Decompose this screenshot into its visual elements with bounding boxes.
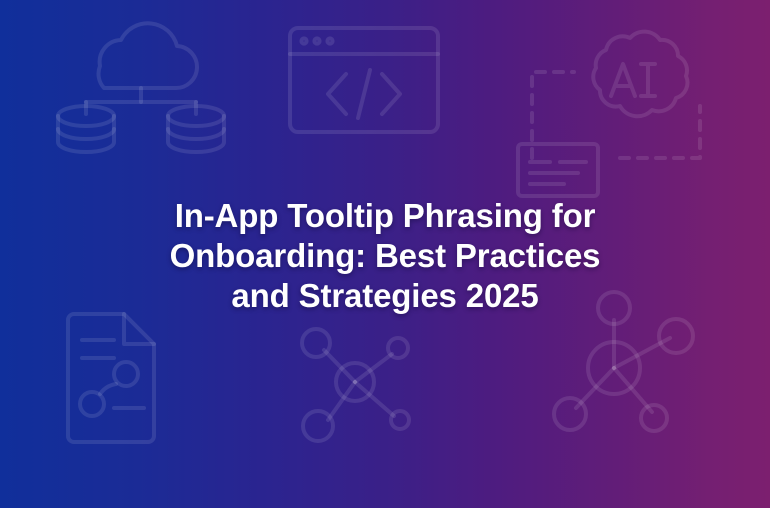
dashed-connector-icon (528, 62, 706, 168)
hero-banner: In-App Tooltip Phrasing for Onboarding: … (0, 0, 770, 508)
ai-cloud-icon (566, 24, 700, 136)
network-node-icon (296, 326, 414, 444)
page-title: In-App Tooltip Phrasing for Onboarding: … (145, 196, 625, 316)
text-card-icon (516, 142, 600, 198)
cloud-database-icon (56, 22, 226, 144)
code-window-icon (288, 26, 440, 134)
title-block: In-App Tooltip Phrasing for Onboarding: … (0, 196, 770, 316)
document-icon (58, 312, 162, 444)
